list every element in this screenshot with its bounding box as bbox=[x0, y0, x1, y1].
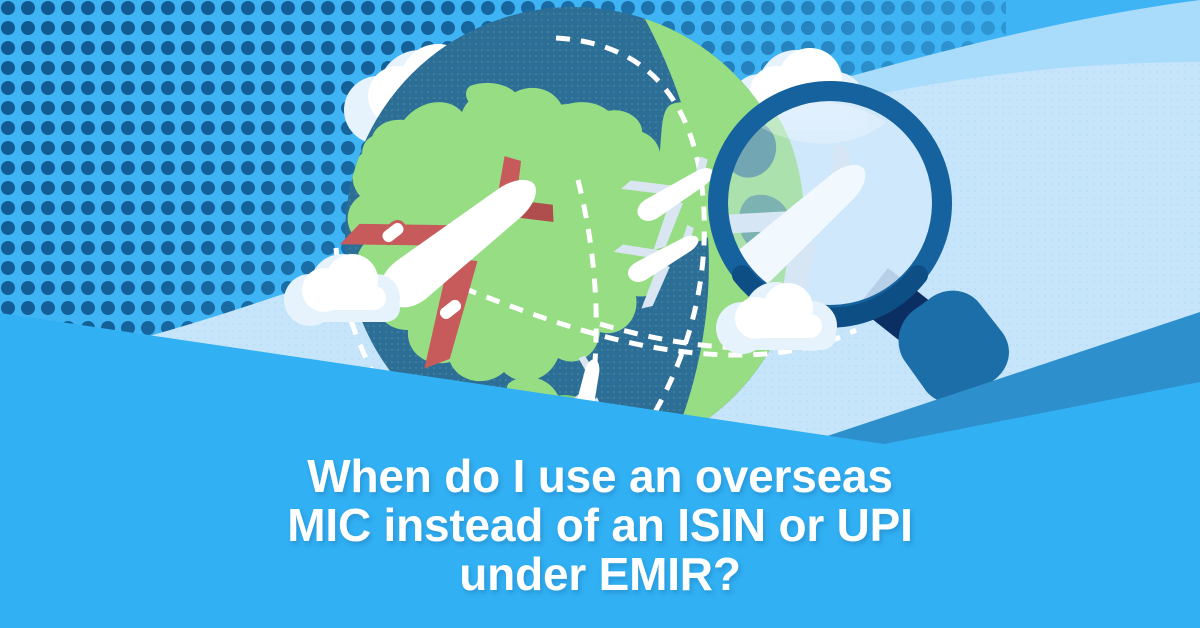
band-bright-blue bbox=[0, 313, 1200, 628]
promo-banner: When do I use an overseas MIC instead of… bbox=[0, 0, 1200, 628]
foreground-bands bbox=[0, 0, 1200, 628]
